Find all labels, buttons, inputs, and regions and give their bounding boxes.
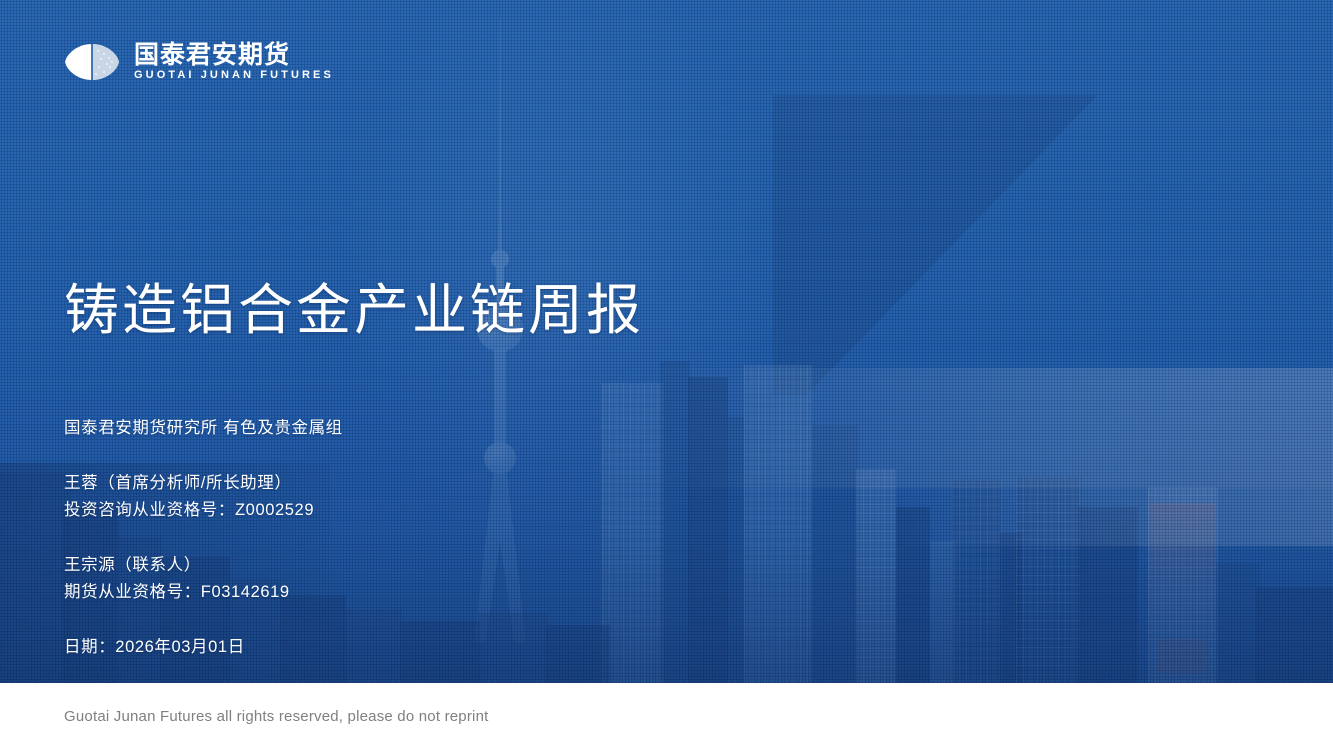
slide-cover: 国泰君安期货 GUOTAI JUNAN FUTURES 铸造铝合金产业链周报 国… — [0, 0, 1333, 750]
page-title: 铸造铝合金产业链周报 — [64, 279, 644, 342]
copyright-text: Guotai Junan Futures all rights reserved… — [64, 708, 489, 725]
guotai-junan-eye-logo-icon — [64, 42, 120, 82]
contact-name: 王宗源（联系人） — [64, 552, 343, 579]
meta-group-date: 日期：2026年03月01日 — [64, 634, 343, 661]
meta-group-contact: 王宗源（联系人） 期货从业资格号：F03142619 — [64, 552, 343, 606]
meta-group-department: 国泰君安期货研究所 有色及贵金属组 — [64, 415, 343, 442]
brand-logo-text: 国泰君安期货 GUOTAI JUNAN FUTURES — [134, 43, 334, 81]
meta-info-block: 国泰君安期货研究所 有色及贵金属组 王蓉（首席分析师/所长助理） 投资咨询从业资… — [64, 415, 343, 661]
analyst-license: 投资咨询从业资格号：Z0002529 — [64, 497, 343, 524]
tower-antenna — [499, 18, 501, 198]
brand-name-en: GUOTAI JUNAN FUTURES — [134, 70, 334, 81]
meta-group-analyst: 王蓉（首席分析师/所长助理） 投资咨询从业资格号：Z0002529 — [64, 470, 343, 524]
department-line: 国泰君安期货研究所 有色及贵金属组 — [64, 415, 343, 442]
contact-license: 期货从业资格号：F03142619 — [64, 579, 343, 606]
analyst-name: 王蓉（首席分析师/所长助理） — [64, 470, 343, 497]
report-date: 日期：2026年03月01日 — [64, 634, 343, 661]
haze-band-lower — [900, 488, 1333, 546]
brand-logo: 国泰君安期货 GUOTAI JUNAN FUTURES — [64, 42, 334, 82]
footer-bar: Guotai Junan Futures all rights reserved… — [0, 683, 1333, 750]
haze-band-upper — [640, 368, 1333, 488]
brand-name-cn: 国泰君安期货 — [134, 43, 334, 68]
